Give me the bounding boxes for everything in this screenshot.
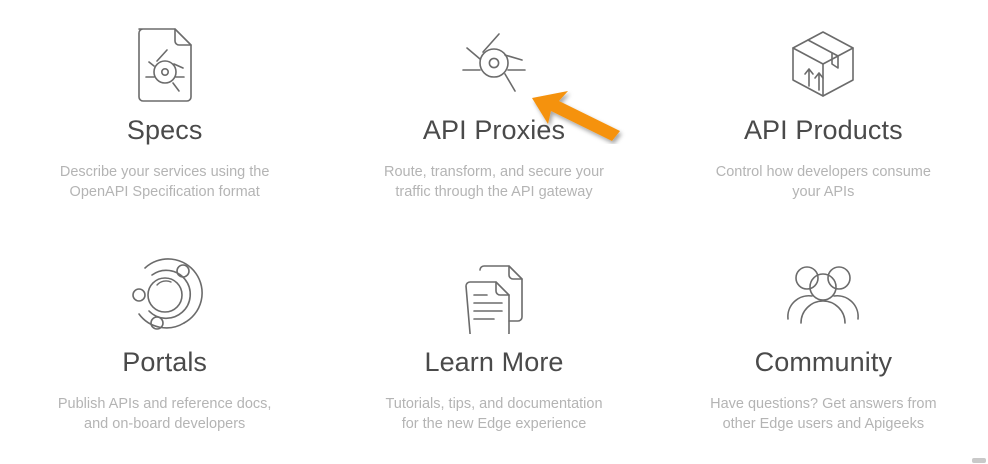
feature-tile-grid: Specs Describe your services using the O… [0,0,988,464]
tile-description-line2: and on-board developers [84,416,245,432]
tile-portals[interactable]: Portals Publish APIs and reference docs,… [0,232,329,464]
tile-title: API Products [744,116,903,146]
tile-title: Specs [127,116,203,146]
tile-description: Publish APIs and reference docs, and on-… [58,394,272,434]
tile-specs[interactable]: Specs Describe your services using the O… [0,0,329,232]
tile-title: Learn More [424,348,563,378]
tile-description-line2: traffic through the API gateway [395,184,592,200]
tile-title: Portals [122,348,207,378]
tile-description-line1: Control how developers consume [716,164,931,180]
tile-learn-more[interactable]: Learn More Tutorials, tips, and document… [329,232,658,464]
tile-community[interactable]: Community Have questions? Get answers fr… [659,232,988,464]
tile-description-line1: Route, transform, and secure your [384,164,604,180]
tile-description: Control how developers consume your APIs [716,162,931,202]
tile-description-line1: Publish APIs and reference docs, [58,396,272,412]
tile-description: Have questions? Get answers from other E… [710,394,936,434]
tile-description: Describe your services using the OpenAPI… [60,162,270,202]
tile-description-line1: Describe your services using the [60,164,270,180]
tile-description-line2: other Edge users and Apigeeks [723,416,925,432]
tile-description-line2: your APIs [792,184,854,200]
tile-description-line2: for the new Edge experience [402,416,587,432]
people-group-icon [782,256,864,334]
tile-description: Route, transform, and secure your traffi… [384,162,604,202]
api-proxy-aperture-icon [455,24,533,102]
tile-title: API Proxies [423,116,565,146]
spec-document-aperture-icon [133,24,197,102]
tile-title: Community [755,348,892,378]
documents-stack-icon [458,256,530,334]
tile-api-products[interactable]: API Products Control how developers cons… [659,0,988,232]
orbit-portal-icon [127,256,203,334]
tile-description-line1: Tutorials, tips, and documentation [385,396,602,412]
tile-description: Tutorials, tips, and documentation for t… [385,394,602,434]
package-box-icon [787,24,859,102]
tile-description-line1: Have questions? Get answers from [710,396,936,412]
scrollbar-fragment[interactable] [972,458,986,463]
tile-description-line2: OpenAPI Specification format [70,184,260,200]
tile-api-proxies[interactable]: API Proxies Route, transform, and secure… [329,0,658,232]
